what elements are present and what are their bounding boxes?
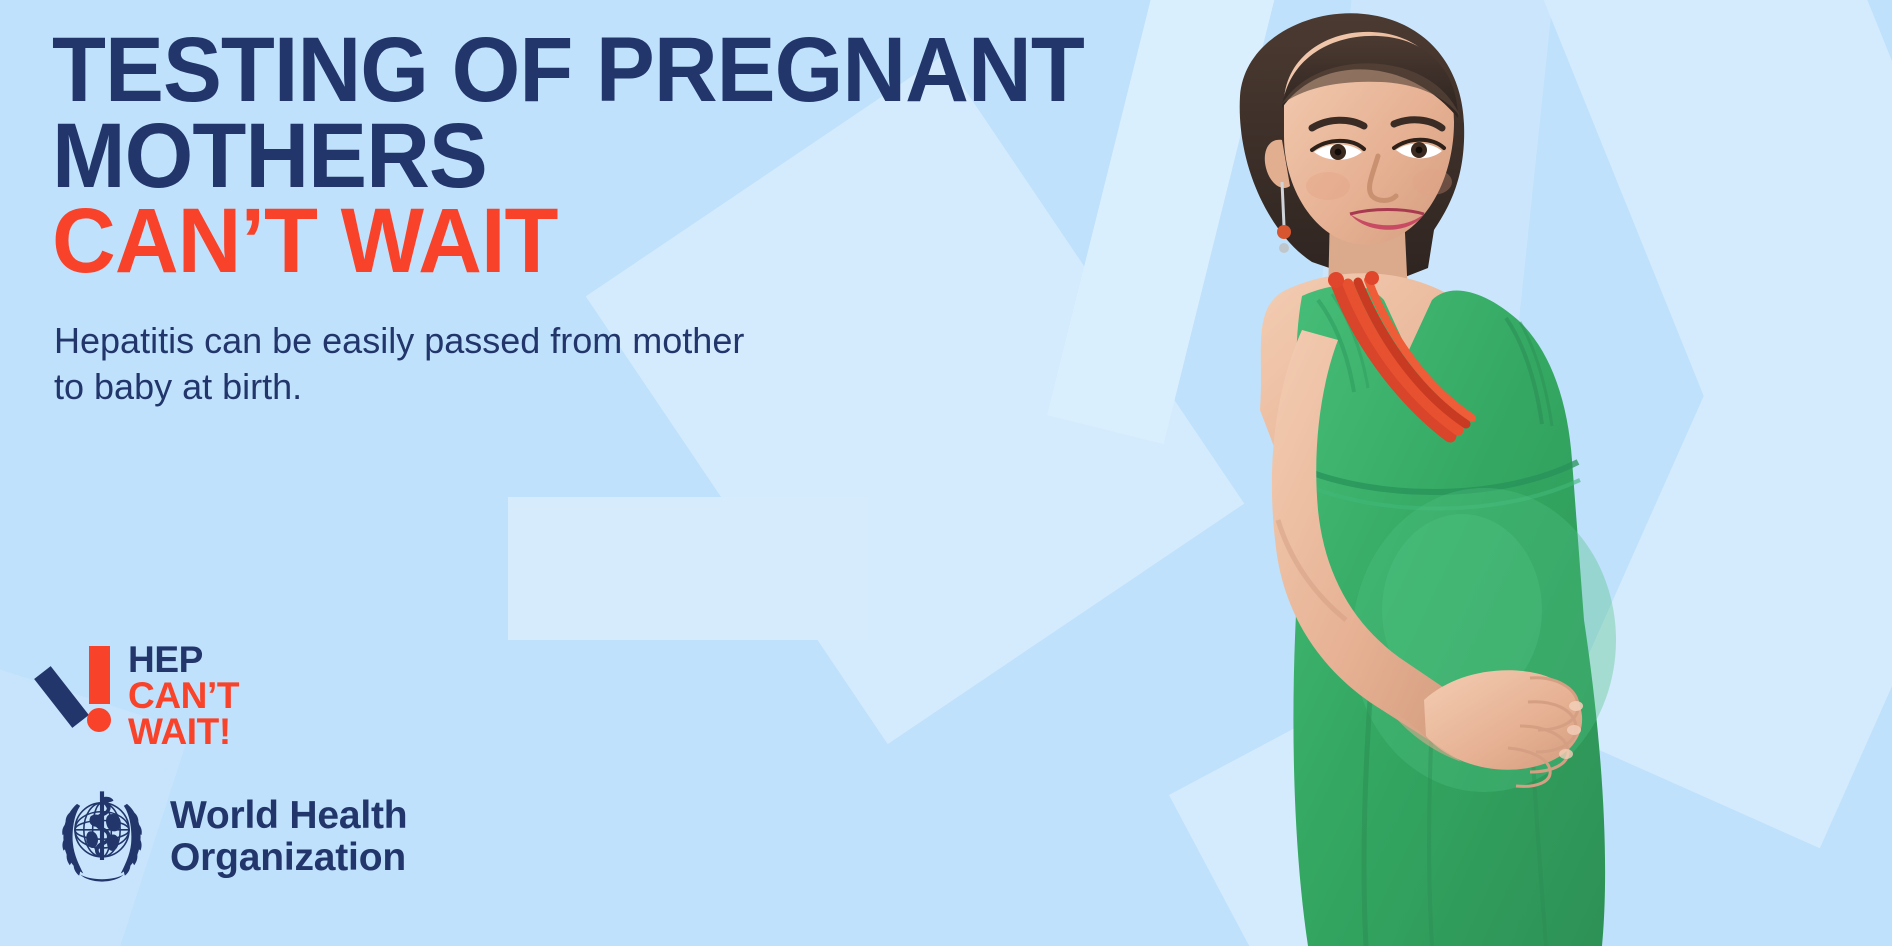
exclamation-dot [87, 708, 111, 732]
hep-logo-line-1: HEP [128, 642, 239, 678]
who-logo: World Health Organization [50, 782, 407, 891]
hep-logo-line-3: WAIT! [128, 714, 239, 750]
pregnant-woman-photo [1132, 0, 1892, 946]
text-content: TESTING OF PREGNANT MOTHERS CAN’T WAIT H… [0, 0, 1150, 946]
headline-line-3-accent: CAN’T WAIT [52, 199, 1098, 285]
exclamation-bar [89, 646, 110, 704]
who-emblem-icon [50, 782, 154, 891]
headline-line-2: MOTHERS [52, 114, 1098, 200]
subtitle-line-2: to baby at birth. [54, 364, 844, 410]
subtitle-line-1: Hepatitis can be easily passed from moth… [54, 318, 844, 364]
hep-cant-wait-logo: HEP CAN’T WAIT! [52, 642, 239, 750]
headline-line-1: TESTING OF PREGNANT [52, 28, 1098, 114]
hep-logo-wordmark: HEP CAN’T WAIT! [128, 642, 239, 750]
who-line-1: World Health [170, 795, 407, 836]
page-title: TESTING OF PREGNANT MOTHERS CAN’T WAIT [52, 28, 1142, 285]
exclamation-mark-icon [52, 646, 114, 738]
who-wordmark: World Health Organization [170, 795, 407, 878]
slash-shape [34, 666, 89, 728]
hep-logo-line-2: CAN’T [128, 678, 239, 714]
campaign-banner: TESTING OF PREGNANT MOTHERS CAN’T WAIT H… [0, 0, 1892, 946]
who-line-2: Organization [170, 837, 407, 878]
subtitle: Hepatitis can be easily passed from moth… [54, 318, 844, 410]
